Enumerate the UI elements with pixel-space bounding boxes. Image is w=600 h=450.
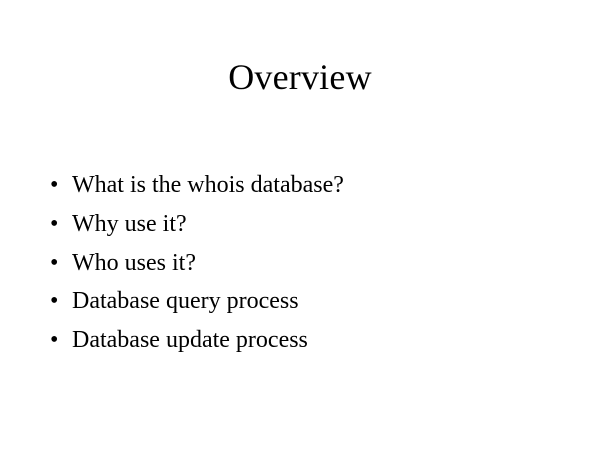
list-item-label: Database update process: [72, 325, 308, 355]
bullet-list: • What is the whois database? • Why use …: [50, 170, 570, 364]
list-item-label: What is the whois database?: [72, 170, 344, 200]
list-item: • Database update process: [50, 325, 570, 364]
list-item-label: Why use it?: [72, 209, 187, 239]
bullet-point-icon: •: [50, 209, 72, 239]
bullet-point-icon: •: [50, 248, 72, 278]
bullet-point-icon: •: [50, 170, 72, 200]
list-item-label: Database query process: [72, 286, 299, 316]
list-item: • Database query process: [50, 286, 570, 325]
list-item-label: Who uses it?: [72, 248, 196, 278]
presentation-slide: Overview • What is the whois database? •…: [0, 0, 600, 450]
bullet-point-icon: •: [50, 325, 72, 355]
bullet-point-icon: •: [50, 286, 72, 316]
page-title: Overview: [0, 56, 600, 98]
list-item: • What is the whois database?: [50, 170, 570, 209]
list-item: • Who uses it?: [50, 248, 570, 287]
list-item: • Why use it?: [50, 209, 570, 248]
